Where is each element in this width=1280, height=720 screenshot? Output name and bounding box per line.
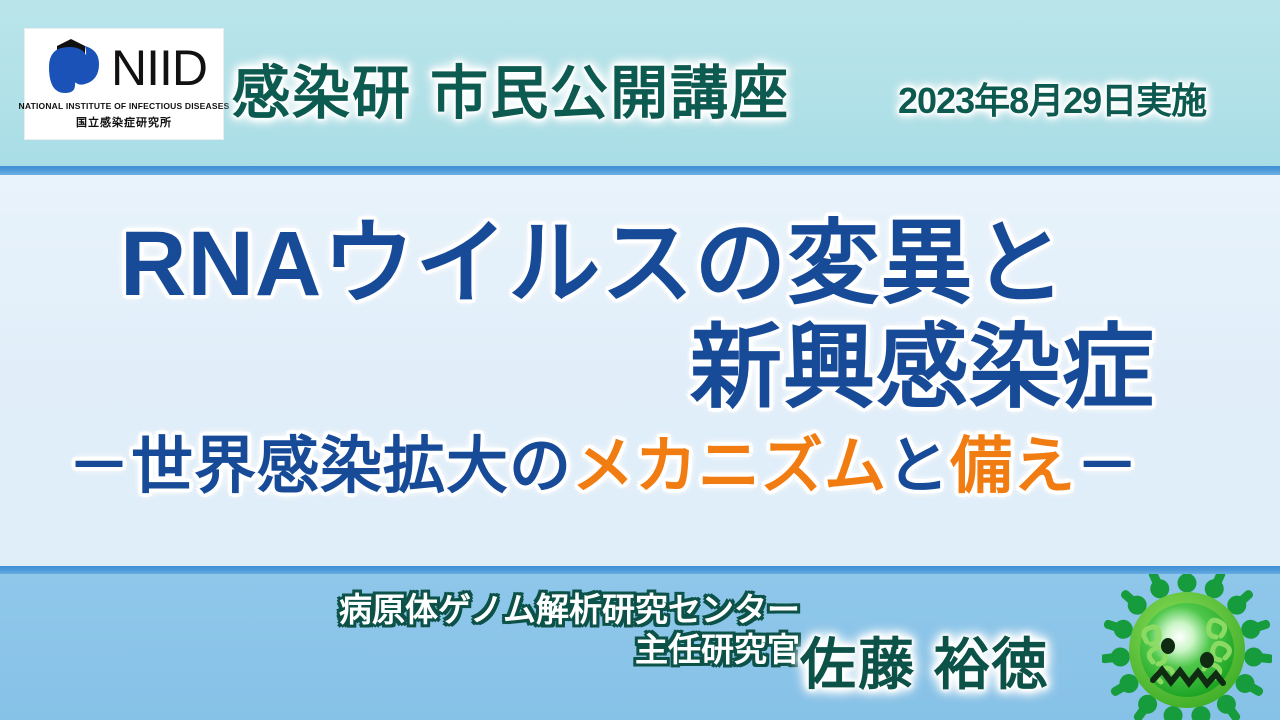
subtitle-part-2-accent: メカニズム bbox=[572, 432, 887, 501]
subtitle-dash-left: － bbox=[68, 432, 131, 501]
affiliation-line-2: 主任研究官 bbox=[339, 630, 800, 670]
header-date: 2023年8月29日実施 bbox=[898, 72, 1206, 124]
niid-logo: NIID NATIONAL INSTITUTE OF INFECTIOUS DI… bbox=[24, 28, 224, 140]
header-title: 感染研 市民公開講座 bbox=[232, 46, 790, 130]
niid-logo-top: NIID bbox=[25, 33, 223, 103]
divider-bottom bbox=[0, 566, 1280, 574]
affiliation-line-1: 病原体ゲノム解析研究センター bbox=[339, 590, 800, 630]
title-block: RNAウイルスの変異と 新興感染症 －世界感染拡大のメカニズムと備え－ bbox=[0, 175, 1280, 566]
header-bar: NIID NATIONAL INSTITUTE OF INFECTIOUS DI… bbox=[0, 0, 1280, 166]
virus-mascot-icon bbox=[1102, 574, 1272, 720]
niid-japanese-name: 国立感染症研究所 bbox=[76, 114, 172, 130]
main-title-area: RNAウイルスの変異と 新興感染症 －世界感染拡大のメカニズムと備え－ bbox=[0, 175, 1280, 566]
speaker-name: 佐藤 裕徳 bbox=[800, 620, 1050, 701]
niid-english-name: NATIONAL INSTITUTE OF INFECTIOUS DISEASE… bbox=[19, 101, 230, 111]
niid-emblem-icon bbox=[41, 37, 115, 99]
divider-top bbox=[0, 166, 1280, 175]
subtitle-dash-right: － bbox=[1076, 432, 1139, 501]
subtitle-part-3: と bbox=[887, 432, 950, 501]
title-line-2-text: 新興感染症 bbox=[690, 317, 1155, 419]
subtitle-part-4-accent: 備え bbox=[950, 432, 1076, 501]
subtitle-part-1: 世界感染拡大の bbox=[131, 432, 572, 501]
title-line-2: 新興感染症 bbox=[690, 293, 1155, 426]
footer-bar: 病原体ゲノム解析研究センター 主任研究官 佐藤 裕徳 bbox=[0, 574, 1280, 720]
subtitle-line: －世界感染拡大のメカニズムと備え－ bbox=[68, 415, 1139, 505]
speaker-affiliation: 病原体ゲノム解析研究センター 主任研究官 bbox=[339, 590, 800, 671]
niid-wordmark: NIID bbox=[111, 43, 207, 93]
slide-root: FUNGUS IMMUNITY FUNGUS POLIO ELECTRON bbox=[0, 0, 1280, 720]
